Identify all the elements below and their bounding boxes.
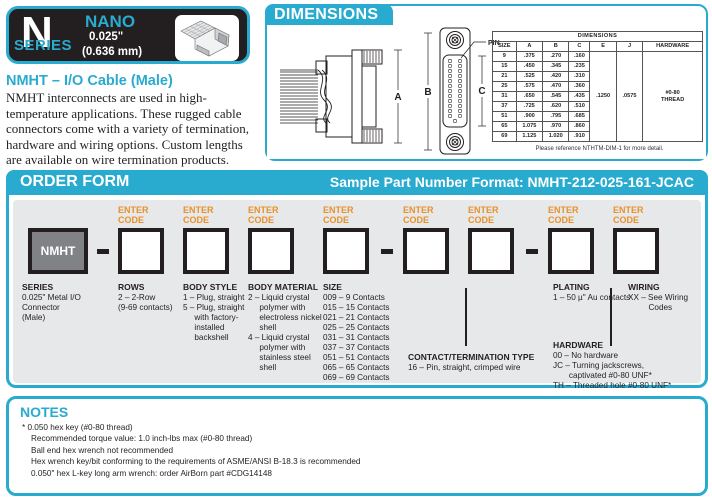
column-option: XX – See Wiring	[628, 293, 688, 303]
dimensions-table: DIMENSIONS SIZE A B C E J HARDWARE 9.375…	[492, 31, 703, 142]
dimensions-cell: 25	[493, 82, 517, 92]
column-text-5: 009 – 9 Contacts015 – 15 Contacts021 – 2…	[323, 293, 389, 383]
dimensions-cell: 1.125	[516, 132, 542, 142]
dimension-callout-a: A	[394, 92, 401, 103]
dimensions-cell: .725	[516, 102, 542, 112]
code-input-box-2[interactable]	[183, 228, 229, 274]
dimensions-tab-label: DIMENSIONS	[274, 6, 378, 24]
dimensions-cell: .525	[516, 72, 542, 82]
col-a: A	[516, 42, 542, 52]
enter-code-line2: CODE	[118, 216, 149, 226]
enter-code-line2: CODE	[183, 216, 214, 226]
column-option: 1 – 50 µ" Au contacts	[553, 293, 630, 303]
leader-line-1	[465, 288, 467, 346]
column-option: 031 – 31 Contacts	[323, 333, 389, 343]
column-option: 021 – 21 Contacts	[323, 313, 389, 323]
dimensions-cell-hardware: #0-80 THREAD	[643, 52, 703, 142]
column-option: shell	[248, 323, 322, 333]
col-j: J	[616, 42, 642, 52]
dimensions-cell: .420	[543, 72, 569, 82]
enter-code-label-4: ENTERCODE	[323, 206, 354, 225]
part-number-dash-3	[526, 249, 538, 254]
connector-side-view-drawing: A	[278, 28, 418, 158]
note-item: * 0.050 hex key (#0-80 thread)	[22, 422, 682, 433]
column-text-7: 1 – 50 µ" Au contacts	[553, 293, 630, 303]
column-option: TH – Threaded hole #0-80 UNF*	[553, 381, 671, 391]
series-banner: N SERIES NANO 0.025" (0.636 mm)	[6, 6, 250, 64]
dimensions-cell: .900	[516, 112, 542, 122]
dimensions-cell: .910	[569, 132, 590, 142]
enter-code-label-5: ENTERCODE	[403, 206, 434, 225]
dimensions-cell: 9	[493, 52, 517, 62]
column-option: polymer with	[248, 303, 322, 313]
col-b: B	[543, 42, 569, 52]
column-option: (9-69 contacts)	[118, 303, 173, 313]
dimensions-cell: 51	[493, 112, 517, 122]
dimensions-cell: .970	[543, 122, 569, 132]
dimensions-cell: 15	[493, 62, 517, 72]
column-label-4: BODY MATERIAL	[248, 282, 318, 292]
dimensions-cell: .450	[516, 62, 542, 72]
column-option: 025 – 25 Contacts	[323, 323, 389, 333]
order-form-title: ORDER FORM	[20, 173, 129, 191]
column-label-1: SERIES	[22, 282, 53, 292]
column-option: 0.025" Metal I/O	[22, 293, 81, 303]
dimensions-cell: .795	[543, 112, 569, 122]
series-pitch-inch: 0.025"	[89, 31, 123, 43]
code-input-box-4[interactable]	[323, 228, 369, 274]
code-input-box-8[interactable]	[613, 228, 659, 274]
code-input-box-5[interactable]	[403, 228, 449, 274]
series-pitch-mm: (0.636 mm)	[82, 46, 142, 58]
column-option: Connector	[22, 303, 81, 313]
column-option: 051 – 51 Contacts	[323, 353, 389, 363]
enter-code-label-2: ENTERCODE	[183, 206, 214, 225]
column-option: 00 – No hardware	[553, 351, 671, 361]
dimensions-cell: .575	[516, 82, 542, 92]
column-text-6: 16 – Pin, straight, crimped wire	[408, 363, 520, 373]
notes-title: NOTES	[20, 404, 68, 420]
note-item: Hex wrench key/bit conforming to the req…	[31, 456, 682, 467]
dimensions-cell: 1.020	[543, 132, 569, 142]
series-family: NANO	[85, 12, 135, 32]
column-option: 2 – Liquid crystal	[248, 293, 322, 303]
column-label-6: CONTACT/TERMINATION TYPE	[408, 352, 534, 362]
column-option: 4 – Liquid crystal	[248, 333, 322, 343]
column-option: 037 – 37 Contacts	[323, 343, 389, 353]
product-title: NMHT – I/O Cable (Male)	[6, 73, 173, 89]
dimensions-cell: .270	[543, 52, 569, 62]
dimension-callout-b: B	[424, 87, 431, 98]
column-label-3: BODY STYLE	[183, 282, 237, 292]
column-option: 015 – 15 Contacts	[323, 303, 389, 313]
column-label-2: ROWS	[118, 282, 144, 292]
enter-code-line2: CODE	[323, 216, 354, 226]
column-text-3: 1 – Plug, straight5 – Plug, straight wit…	[183, 293, 244, 343]
enter-code-line2: CODE	[403, 216, 434, 226]
dimensions-cell: 21	[493, 72, 517, 82]
dimensions-table-header-row: SIZE A B C E J HARDWARE	[493, 42, 703, 52]
code-input-box-1[interactable]	[118, 228, 164, 274]
enter-code-label-1: ENTERCODE	[118, 206, 149, 225]
column-option: electroless nickel	[248, 313, 322, 323]
column-text-1: 0.025" Metal I/OConnector(Male)	[22, 293, 81, 323]
order-form-header: ORDER FORM Sample Part Number Format: NM…	[6, 170, 708, 195]
enter-code-line2: CODE	[468, 216, 499, 226]
column-option: 1 – Plug, straight	[183, 293, 244, 303]
connector-front-view-drawing: B C PIN 1	[418, 24, 502, 158]
product-description: NMHT interconnects are used in high-temp…	[6, 90, 258, 168]
column-option: shell	[248, 363, 322, 373]
dimensions-cell: 65	[493, 122, 517, 132]
column-option: 009 – 9 Contacts	[323, 293, 389, 303]
column-option: installed	[183, 323, 244, 333]
notes-list: * 0.050 hex key (#0-80 thread)Recommende…	[22, 422, 682, 479]
dimensions-cell: .860	[569, 122, 590, 132]
dimensions-cell-e: .1250	[590, 52, 616, 142]
column-option: (Male)	[22, 313, 81, 323]
code-input-box-6[interactable]	[468, 228, 514, 274]
enter-code-label-8: ENTERCODE	[613, 206, 644, 225]
column-option: captivated #0-80 UNF*	[553, 371, 671, 381]
dimensions-table-title: DIMENSIONS	[493, 32, 703, 42]
col-e: E	[590, 42, 616, 52]
column-option: Codes	[628, 303, 688, 313]
dimensions-cell: .235	[569, 62, 590, 72]
enter-code-line2: CODE	[613, 216, 644, 226]
series-word: SERIES	[14, 37, 72, 54]
column-text-9: XX – See Wiring Codes	[628, 293, 688, 313]
note-item: Ball end hex wrench not recommended	[31, 445, 682, 456]
column-label-5: SIZE	[323, 282, 342, 292]
series-code-box: NMHT	[28, 228, 88, 274]
column-option: polymer with	[248, 343, 322, 353]
column-option: 2 – 2-Row	[118, 293, 173, 303]
sample-part-number: Sample Part Number Format: NMHT-212-025-…	[330, 174, 694, 190]
dimensions-cell: .650	[516, 92, 542, 102]
column-option: stainless steel	[248, 353, 322, 363]
dimensions-cell: .470	[543, 82, 569, 92]
dimensions-tab: DIMENSIONS	[265, 4, 393, 25]
column-option: 16 – Pin, straight, crimped wire	[408, 363, 520, 373]
dimensions-cell: .310	[569, 72, 590, 82]
column-label-9: WIRING	[628, 282, 660, 292]
dimension-callout-c: C	[478, 86, 485, 97]
column-option: 5 – Plug, straight	[183, 303, 244, 313]
dimensions-cell: 37	[493, 102, 517, 112]
col-size: SIZE	[493, 42, 517, 52]
column-option: JC – Turning jackscrews,	[553, 361, 671, 371]
dimensions-cell: 31	[493, 92, 517, 102]
dimensions-cell: .685	[569, 112, 590, 122]
column-text-2: 2 – 2-Row(9-69 contacts)	[118, 293, 173, 313]
part-number-dash-1	[97, 249, 109, 254]
dimensions-cell: .510	[569, 102, 590, 112]
dimensions-footnote: Please reference NTHTM-DIM-1 for more de…	[492, 146, 707, 152]
col-hardware: HARDWARE	[643, 42, 703, 52]
dimensions-cell: .345	[543, 62, 569, 72]
dimensions-cell: .545	[543, 92, 569, 102]
dimensions-cell: .360	[569, 82, 590, 92]
connector-photo-icon	[175, 15, 239, 61]
column-option: with factory-	[183, 313, 244, 323]
dimensions-cell: .160	[569, 52, 590, 62]
dimensions-cell: .620	[543, 102, 569, 112]
enter-code-line2: CODE	[248, 216, 279, 226]
enter-code-label-3: ENTERCODE	[248, 206, 279, 225]
dimensions-cell: .435	[569, 92, 590, 102]
column-option: 065 – 65 Contacts	[323, 363, 389, 373]
code-input-box-7[interactable]	[548, 228, 594, 274]
column-text-4: 2 – Liquid crystal polymer with electrol…	[248, 293, 322, 373]
column-label-7: PLATING	[553, 282, 590, 292]
dimensions-cell: .375	[516, 52, 542, 62]
dimensions-cell: 1.075	[516, 122, 542, 132]
enter-code-label-6: ENTERCODE	[468, 206, 499, 225]
dimensions-cell-j: .0575	[616, 52, 642, 142]
column-option: 069 – 69 Contacts	[323, 373, 389, 383]
code-input-box-3[interactable]	[248, 228, 294, 274]
note-item: 0.050" hex L-key long arm wrench: order …	[31, 468, 682, 479]
note-item: Recommended torque value: 1.0 inch-lbs m…	[31, 433, 682, 444]
enter-code-label-7: ENTERCODE	[548, 206, 579, 225]
dimensions-cell: 69	[493, 132, 517, 142]
column-text-8: 00 – No hardwareJC – Turning jackscrews,…	[553, 351, 671, 391]
col-c: C	[569, 42, 590, 52]
column-option: backshell	[183, 333, 244, 343]
enter-code-line2: CODE	[548, 216, 579, 226]
column-label-8: HARDWARE	[553, 340, 603, 350]
dimensions-table-row: 9.375.270.160.1250.0575#0-80 THREAD	[493, 52, 703, 62]
part-number-dash-2	[381, 249, 393, 254]
